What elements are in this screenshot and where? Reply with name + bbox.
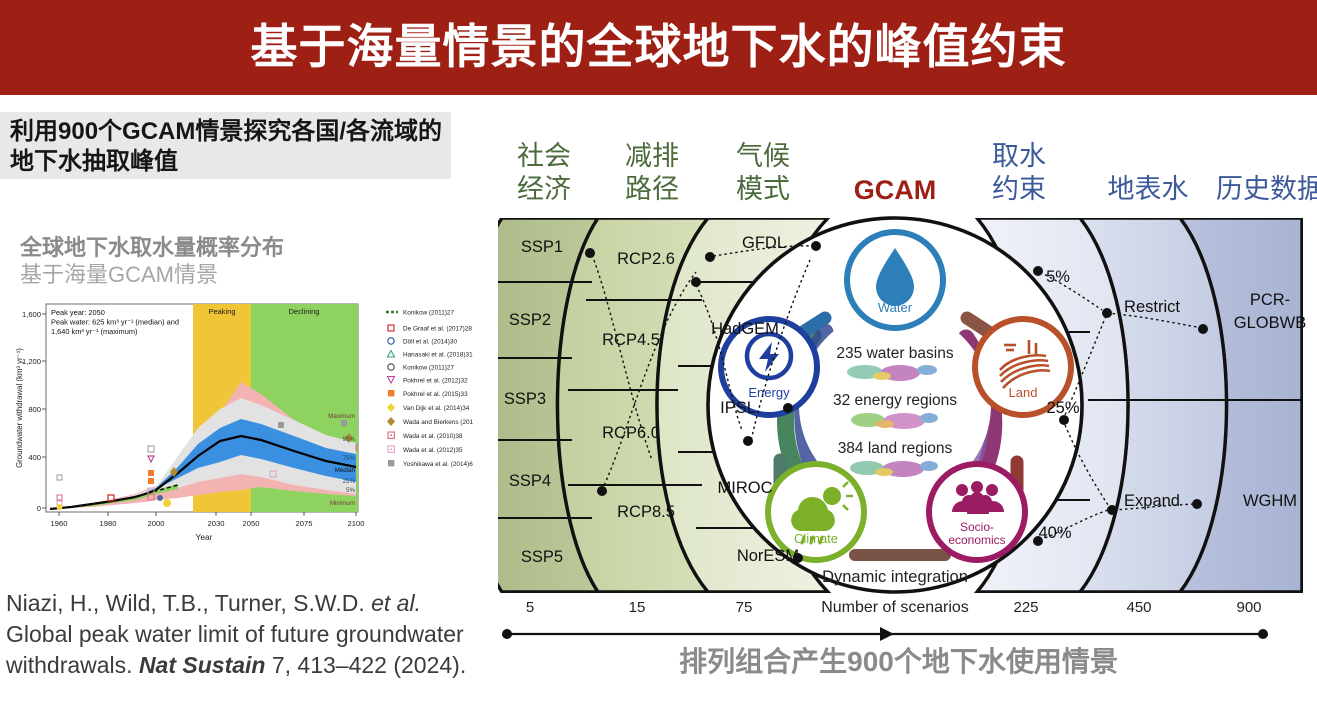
ring-label-noresm[interactable]: NorESM (737, 547, 799, 565)
legend-label: Van Dijk et al. (2014)34 (403, 405, 470, 412)
legend-item: Konikow (2011)27 (386, 310, 454, 317)
ring-label-ssp3[interactable]: SSP3 (504, 390, 546, 408)
ring-label-restrict[interactable]: Restrict (1124, 298, 1180, 316)
bottom-caption: 排列组合产生900个地下水使用情景 (480, 640, 1317, 680)
phase-label-declining: Declining (289, 307, 320, 316)
ring-label-ssp5[interactable]: SSP5 (521, 548, 563, 566)
node-climate-label: Climate (794, 531, 838, 546)
diagram-svg: 社会 经济 减排 路径 气候 模式 GCAM 取水 约束 地表水 历史数据 (480, 100, 1317, 715)
ring-label-25pct[interactable]: 25% (1046, 399, 1079, 417)
legend-label: Döll et al. (2014)30 (403, 339, 457, 346)
ring-label-wghm[interactable]: WGHM (1243, 492, 1297, 510)
inner-stat-land-regions: 384 land regions (838, 440, 953, 457)
chart-title: 全球地下水取水量概率分布 (20, 234, 440, 261)
sun-icon (823, 487, 841, 505)
legend-item: Döll et al. (2014)30 (388, 338, 458, 346)
groundwater-withdrawal-chart: Maximum 95% 75% Median 25% 5% Minimum Pe… (8, 300, 473, 565)
y-axis: 0 400 800 1,200 1,600 Groundwater withdr… (15, 310, 46, 513)
legend-label: De Graaf et al. (2017)28 (403, 326, 472, 333)
band-label-minimum: Minimum (330, 500, 355, 507)
legend-item: Pokhrel et al. (2012)32 (388, 377, 469, 385)
ring-label-ipsl[interactable]: IPSL (720, 399, 756, 417)
scenario-scale: 5 15 75 Number of scenarios 225 450 900 (502, 599, 1268, 641)
legend-label: Pokhrel et al. (2012)32 (403, 378, 468, 385)
ring-label-pcr-line2[interactable]: GLOBWB (1234, 314, 1306, 332)
header-socio-economy-line1: 社会 (517, 141, 571, 171)
title-bar: 基于海量情景的全球地下水的峰值约束 (0, 0, 1317, 95)
header-gcam: GCAM (854, 175, 937, 205)
ring-label-pcr-line1[interactable]: PCR- (1250, 291, 1290, 309)
scale-arrow-icon (880, 627, 894, 641)
header-withdrawal-line1: 取水 (992, 141, 1046, 171)
ytick-0: 0 (37, 504, 41, 513)
citation-part-3: 7, 413–422 (2024). (265, 652, 466, 678)
citation-part-1: Niazi, H., Wild, T.B., Turner, S.W.D. (6, 590, 371, 616)
scale-tick-225: 225 (1013, 599, 1038, 616)
header-climate-model-line1: 气候 (736, 141, 790, 171)
xtick-2100: 2100 (348, 519, 365, 528)
phase-label-peaking: Peaking (208, 307, 235, 316)
header-historical-data: 历史数据 (1216, 174, 1317, 204)
legend-label: Konikow (2011)27 (403, 365, 454, 372)
left-heading: 利用900个GCAM情景探究各国/各流域的地下水抽取峰值 (10, 117, 450, 177)
legend-label: Hanasaki et al. (2018)31 (403, 352, 473, 359)
scale-tick-75: 75 (736, 599, 753, 616)
legend-item: Wada and Bierkens (2014)35 (387, 417, 473, 426)
ring-label-gfdl[interactable]: GFDL (742, 234, 786, 252)
gcam-center: 235 water basins 32 energy regions 384 l… (708, 218, 1082, 592)
header-mitigation-line1: 减排 (625, 141, 679, 171)
node-climate[interactable]: Climate (768, 464, 864, 560)
scale-tick-900: 900 (1236, 599, 1261, 616)
band-label-25: 25% (343, 478, 356, 485)
band-label-median: Median (335, 467, 356, 474)
ytick-1600: 1,600 (22, 310, 41, 319)
node-land-label: Land (1009, 385, 1038, 400)
scale-tick-5: 5 (526, 599, 534, 616)
ring-label-rcp45[interactable]: RCP4.5 (602, 331, 660, 349)
annotation-line-1: Peak year: 2050 (51, 308, 105, 317)
ytick-800: 800 (28, 405, 41, 414)
legend-item: Pokhrel et al. (2015)33 (388, 390, 468, 398)
header-withdrawal-line2: 约束 (992, 174, 1046, 204)
ring-label-rcp85[interactable]: RCP8.5 (617, 503, 675, 521)
legend-label: Wada et al. (2010)38 (403, 433, 463, 440)
legend-label: Konikow (2011)27 (403, 310, 454, 317)
ytick-1200: 1,200 (22, 357, 41, 366)
legend-item: Konikow (2011)27 (388, 364, 455, 372)
citation-etal: et al. (371, 590, 421, 616)
ring-label-5pct[interactable]: 5% (1046, 268, 1070, 286)
ytick-400: 400 (28, 453, 41, 462)
ring-label-hadgem[interactable]: HadGEM (711, 320, 779, 338)
xtick-2075: 2075 (296, 519, 313, 528)
xtick-2050: 2050 (243, 519, 260, 528)
legend-item: Yoshikawa et al. (2014)66 (388, 460, 473, 468)
header-socio-economy-line2: 经济 (517, 174, 571, 204)
page-title: 基于海量情景的全球地下水的峰值约束 (0, 7, 1317, 87)
legend-item: Van Dijk et al. (2014)34 (387, 403, 470, 412)
chart-subtitle: 基于海量GCAM情景 (20, 261, 440, 288)
ring-label-rcp26[interactable]: RCP2.6 (617, 250, 675, 268)
band-label-75: 75% (343, 455, 356, 462)
header-surface-water: 地表水 (1108, 174, 1189, 204)
inner-stat-water-basins: 235 water basins (836, 345, 953, 362)
chart-legend: Konikow (2011)27 De Graaf et al. (2017)2… (386, 310, 473, 468)
xtick-2030: 2030 (208, 519, 225, 528)
ring-label-miroc[interactable]: MIROC (718, 479, 773, 497)
band-label-95: 95% (343, 436, 356, 443)
band-label-5: 5% (346, 487, 355, 494)
scale-tick-15: 15 (629, 599, 646, 616)
xtick-2000: 2000 (148, 519, 165, 528)
dynamic-integration-label: Dynamic integration (822, 568, 968, 586)
legend-item: Hanasaki et al. (2018)31 (388, 351, 474, 359)
legend-item: Wada et al. (2010)38 (388, 432, 463, 440)
citation-journal: Nat Sustain (139, 652, 266, 678)
xtick-1980: 1980 (100, 519, 117, 528)
annotation-line-3: 1,640 km³ yr⁻¹ (maximum) (51, 327, 137, 336)
header-mitigation-line2: 路径 (625, 174, 679, 204)
inner-stat-energy-regions: 32 energy regions (833, 392, 957, 409)
node-socio-economics[interactable]: Socio- economics (929, 464, 1025, 560)
ring-label-rcp60[interactable]: RCP6.0 (602, 424, 660, 442)
y-axis-label: Groundwater withdrawal (km³ yr⁻¹) (15, 348, 24, 468)
annotation-line-2: Peak water: 625 km³ yr⁻¹ (median) and (51, 318, 179, 327)
ring-label-ssp1[interactable]: SSP1 (521, 238, 563, 256)
node-energy-label: Energy (748, 385, 790, 400)
node-socio-label-line2: economics (948, 533, 1005, 547)
scale-tick-450: 450 (1126, 599, 1151, 616)
header-climate-model-line2: 模式 (736, 174, 790, 204)
legend-label: Yoshikawa et al. (2014)66 (403, 461, 473, 468)
slide-root: 基于海量情景的全球地下水的峰值约束 利用900个GCAM情景探究各国/各流域的地… (0, 0, 1317, 715)
legend-label: Pokhrel et al. (2015)33 (403, 391, 468, 398)
xtick-1960: 1960 (51, 519, 68, 528)
ring-label-expand[interactable]: Expand (1124, 492, 1180, 510)
legend-label: Wada et al. (2012)35 (403, 447, 463, 454)
diagram-headers: 社会 经济 减排 路径 气候 模式 GCAM 取水 约束 地表水 历史数据 (517, 141, 1317, 205)
node-water-label: Water (878, 300, 913, 315)
band-label-maximum: Maximum (328, 413, 355, 420)
x-axis-label: Year (196, 532, 213, 542)
citation: Niazi, H., Wild, T.B., Turner, S.W.D. et… (6, 588, 476, 681)
legend-label: Wada and Bierkens (2014)35 (403, 419, 473, 426)
node-socio-label-line1: Socio- (960, 520, 994, 534)
x-axis: 1960 1980 2000 2030 2050 2075 2100 Year (51, 512, 365, 542)
gcam-scenario-diagram: 社会 经济 减排 路径 气候 模式 GCAM 取水 约束 地表水 历史数据 (480, 100, 1317, 715)
scale-label: Number of scenarios (821, 599, 969, 616)
ring-label-ssp2[interactable]: SSP2 (509, 311, 551, 329)
legend-item: Wada et al. (2012)35 (388, 446, 463, 454)
legend-item: De Graaf et al. (2017)28 (388, 325, 472, 333)
ring-label-ssp4[interactable]: SSP4 (509, 472, 551, 490)
node-water[interactable]: Water (847, 232, 943, 328)
chart-svg: Maximum 95% 75% Median 25% 5% Minimum Pe… (8, 300, 473, 565)
